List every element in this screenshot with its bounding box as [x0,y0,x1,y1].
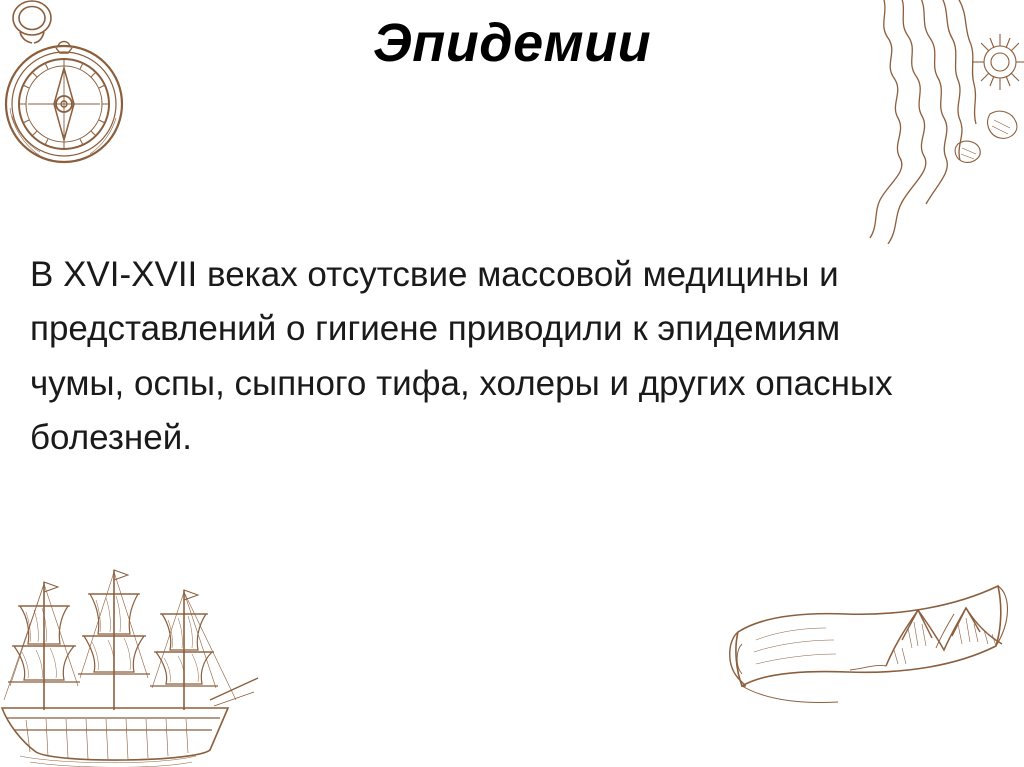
sailing-ship-illustration [0,560,296,767]
slide-body-text: В XVI-XVII веках отсутсвие массовой меди… [30,248,930,465]
page-title: Эпидемии [0,14,1024,73]
scroll-map-illustration [726,574,1024,767]
presentation-slide: Эпидемии В XVI-XVII веках отсутсвие масс… [0,0,1024,767]
